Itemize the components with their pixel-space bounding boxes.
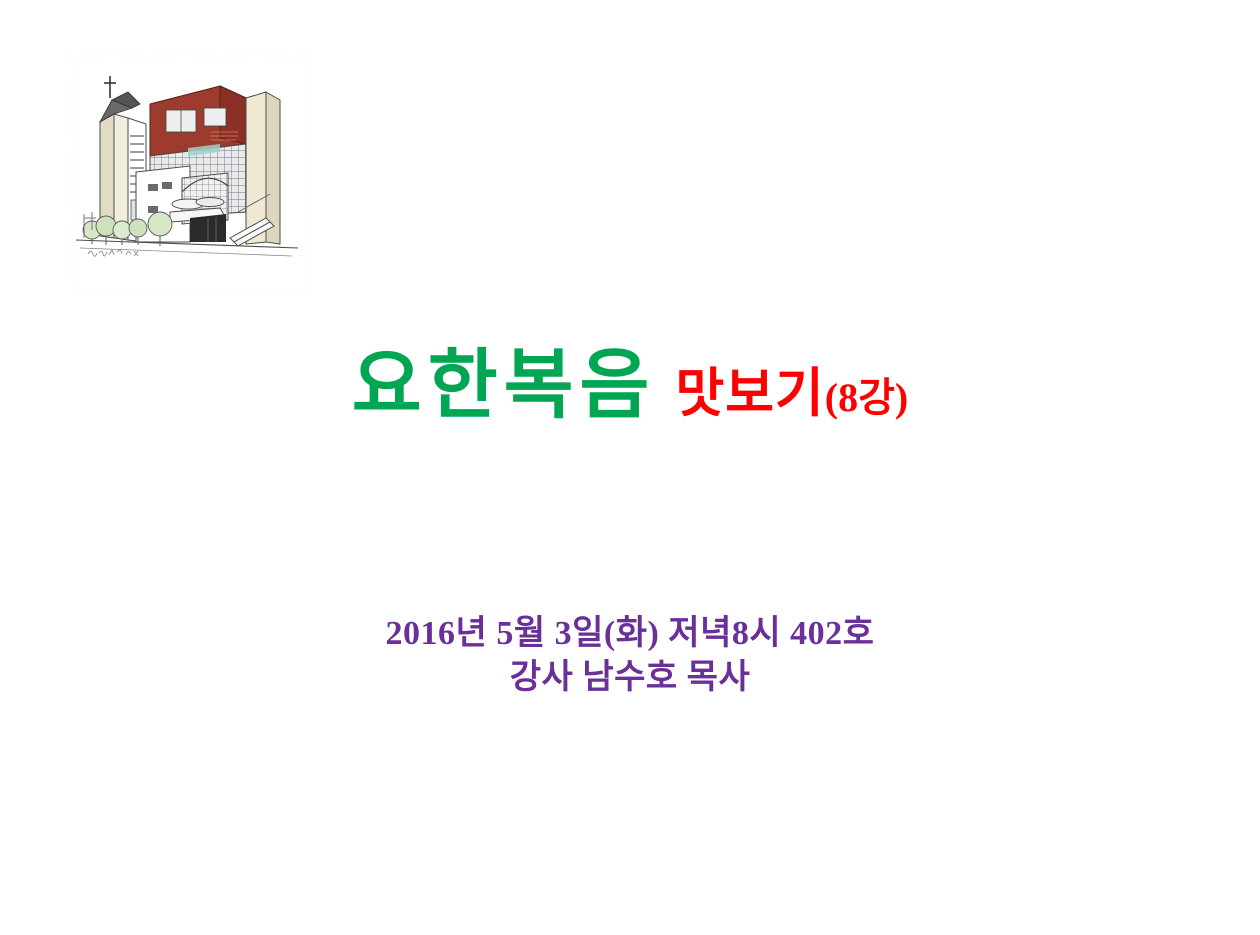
slide-title: 요한복음맛보기(8강)	[0, 348, 1260, 424]
title-lesson-number: (8강)	[825, 375, 908, 420]
event-speaker: 강사 남수호 목사	[0, 656, 1260, 700]
church-building-sketch	[70, 52, 310, 294]
event-datetime-location: 2016년 5월 3일(화) 저녁8시 402호	[0, 612, 1260, 656]
title-main-text: 요한복음	[352, 344, 656, 428]
title-sub-text: 맛보기	[675, 365, 824, 423]
presentation-slide: 요한복음맛보기(8강) 2016년 5월 3일(화) 저녁8시 402호 강사 …	[0, 0, 1260, 935]
church-building-sketch-svg	[70, 52, 310, 294]
event-info: 2016년 5월 3일(화) 저녁8시 402호 강사 남수호 목사	[0, 612, 1260, 700]
